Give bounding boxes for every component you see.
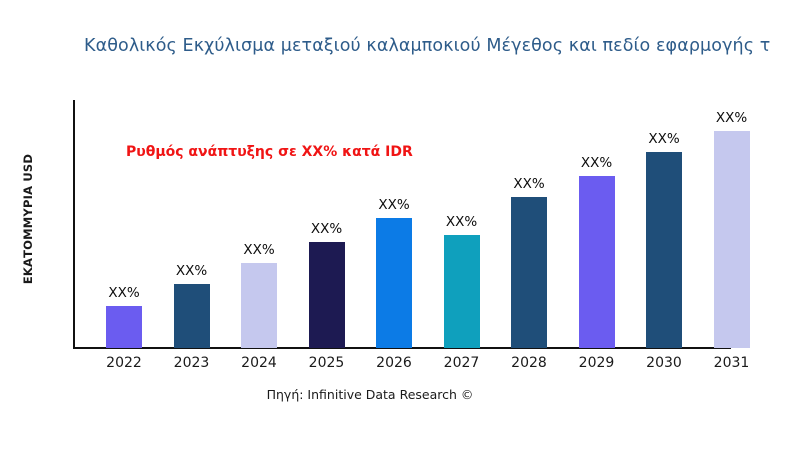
- bar-value-label-2028: XX%: [513, 176, 544, 192]
- bar-value-label-2029: XX%: [581, 155, 612, 171]
- bar-2025[interactable]: XX%: [309, 242, 345, 348]
- bar-value-label-2030: XX%: [648, 131, 679, 147]
- x-tick-label-2027: 2027: [432, 355, 492, 371]
- plot-area: XX%2022XX%2023XX%2024XX%2025XX%2026XX%20…: [0, 0, 800, 450]
- x-tick-label-2025: 2025: [297, 355, 357, 371]
- bar-chart: Καθολικός Εκχύλισμα μεταξιού καλαμποκιού…: [0, 0, 800, 450]
- x-tick-label-2023: 2023: [162, 355, 222, 371]
- bar-2026[interactable]: XX%: [376, 218, 412, 348]
- bar-2030[interactable]: XX%: [646, 152, 682, 348]
- bar-2022[interactable]: XX%: [106, 306, 142, 349]
- x-tick-label-2024: 2024: [229, 355, 289, 371]
- x-tick-label-2026: 2026: [364, 355, 424, 371]
- bar-value-label-2024: XX%: [243, 242, 274, 258]
- bar-rect-2027: [444, 235, 480, 348]
- bar-rect-2026: [376, 218, 412, 348]
- x-tick-label-2028: 2028: [499, 355, 559, 371]
- bar-rect-2030: [646, 152, 682, 348]
- bar-rect-2023: [174, 284, 210, 348]
- bar-value-label-2025: XX%: [311, 221, 342, 237]
- bar-2027[interactable]: XX%: [444, 235, 480, 348]
- bar-rect-2031: [714, 131, 750, 348]
- bar-rect-2022: [106, 306, 142, 349]
- x-tick-label-2031: 2031: [702, 355, 762, 371]
- bar-value-label-2026: XX%: [378, 197, 409, 213]
- bar-2028[interactable]: XX%: [511, 197, 547, 348]
- bar-rect-2025: [309, 242, 345, 348]
- bar-value-label-2023: XX%: [176, 263, 207, 279]
- bar-value-label-2022: XX%: [108, 285, 139, 301]
- bar-2023[interactable]: XX%: [174, 284, 210, 348]
- bar-2031[interactable]: XX%: [714, 131, 750, 348]
- bar-rect-2029: [579, 176, 615, 348]
- x-tick-label-2030: 2030: [634, 355, 694, 371]
- bar-value-label-2031: XX%: [716, 110, 747, 126]
- source-note: Πηγή: Infinitive Data Research ©: [0, 387, 740, 402]
- bar-rect-2028: [511, 197, 547, 348]
- x-tick-label-2029: 2029: [567, 355, 627, 371]
- bar-2029[interactable]: XX%: [579, 176, 615, 348]
- bar-rect-2024: [241, 263, 277, 348]
- bar-2024[interactable]: XX%: [241, 263, 277, 348]
- bar-value-label-2027: XX%: [446, 214, 477, 230]
- x-tick-label-2022: 2022: [94, 355, 154, 371]
